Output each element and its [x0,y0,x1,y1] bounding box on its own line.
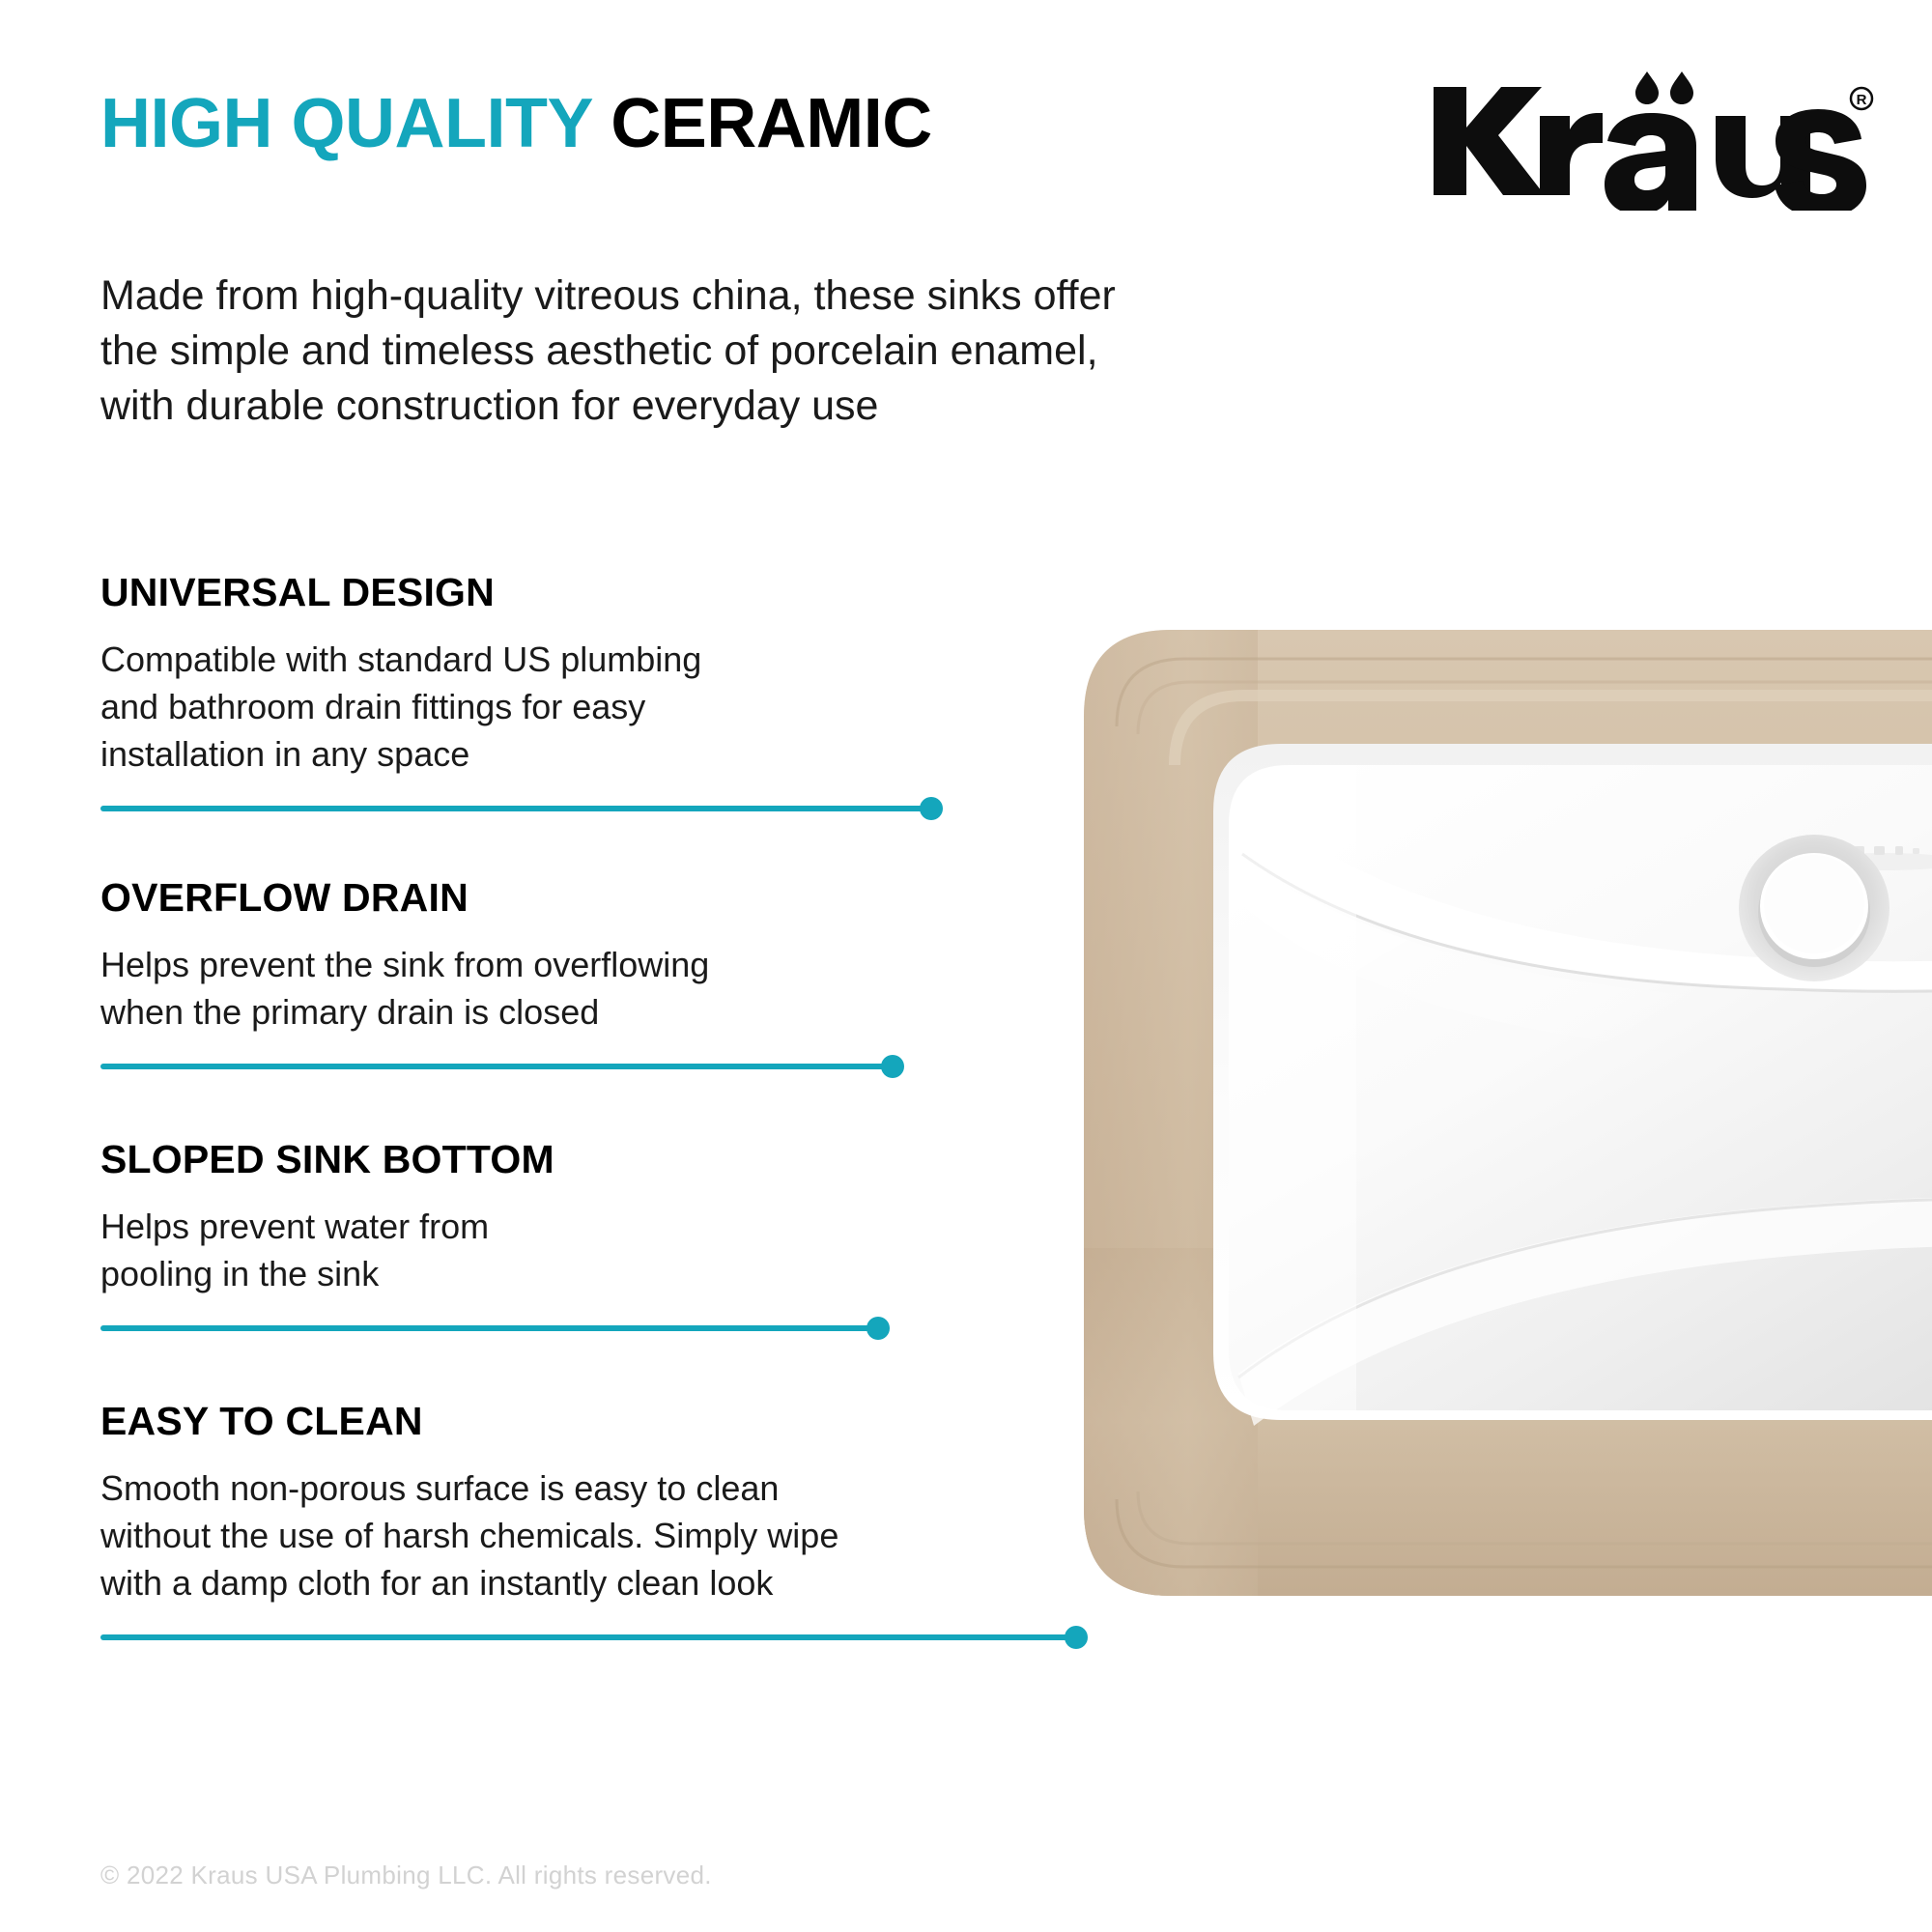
feature-body-line: Smooth non-porous surface is easy to cle… [100,1465,1124,1513]
feature-easy-to-clean: EASY TO CLEAN Smooth non-porous surface … [100,1399,1124,1650]
divider-bar [100,1634,1076,1640]
intro-line-1: Made from high-quality vitreous china, t… [100,269,1124,324]
feature-body: Compatible with standard US plumbing and… [100,637,1124,779]
feature-body-line: Compatible with standard US plumbing [100,637,1124,684]
feature-body: Smooth non-porous surface is easy to cle… [100,1465,1124,1607]
feature-body-line: with a damp cloth for an instantly clean… [100,1560,1124,1607]
divider-end-dot [867,1317,890,1340]
feature-list: UNIVERSAL DESIGN Compatible with standar… [100,570,1124,1650]
feature-body-line: Helps prevent the sink from overflowing [100,942,1124,989]
divider-end-dot [881,1055,904,1078]
feature-body-line: and bathroom drain fittings for easy [100,684,1124,731]
product-image [1024,572,1932,1596]
divider-end-dot [920,797,943,820]
feature-title: UNIVERSAL DESIGN [100,570,1124,615]
feature-title: OVERFLOW DRAIN [100,875,1124,921]
feature-body-line: pooling in the sink [100,1251,1124,1298]
feature-body-line: without the use of harsh chemicals. Simp… [100,1513,1124,1560]
feature-body-line: when the primary drain is closed [100,989,1124,1037]
page-title-accent: HIGH QUALITY [100,85,592,162]
kraus-logo: R [1422,56,1876,211]
divider-bar [100,1325,878,1331]
page-title-plain: CERAMIC [611,85,932,162]
feature-divider [100,1316,1124,1341]
product-feature-page: HIGH QUALITY CERAMIC R Made from high-qu… [0,0,1932,1932]
feature-overflow-drain: OVERFLOW DRAIN Helps prevent the sink fr… [100,875,1124,1079]
divider-bar [100,806,931,811]
divider-bar [100,1064,893,1069]
feature-title: SLOPED SINK BOTTOM [100,1137,1124,1182]
feature-title: EASY TO CLEAN [100,1399,1124,1444]
feature-divider [100,1054,1124,1079]
intro-paragraph: Made from high-quality vitreous china, t… [100,269,1124,435]
feature-divider [100,796,1124,821]
intro-line-3: with durable construction for everyday u… [100,379,1124,434]
feature-universal-design: UNIVERSAL DESIGN Compatible with standar… [100,570,1124,821]
undermount-ceramic-sink [1024,572,1932,1596]
feature-body-line: installation in any space [100,731,1124,779]
svg-text:R: R [1857,92,1867,108]
feature-body: Helps prevent the sink from overflowing … [100,942,1124,1037]
footer-copyright: © 2022 Kraus USA Plumbing LLC. All right… [100,1861,712,1890]
feature-sloped-sink-bottom: SLOPED SINK BOTTOM Helps prevent water f… [100,1137,1124,1341]
feature-body-line: Helps prevent water from [100,1204,1124,1251]
feature-divider [100,1625,1124,1650]
drain-hole [1739,835,1889,981]
feature-body: Helps prevent water from pooling in the … [100,1204,1124,1298]
intro-line-2: the simple and timeless aesthetic of por… [100,324,1124,379]
divider-end-dot [1065,1626,1088,1649]
